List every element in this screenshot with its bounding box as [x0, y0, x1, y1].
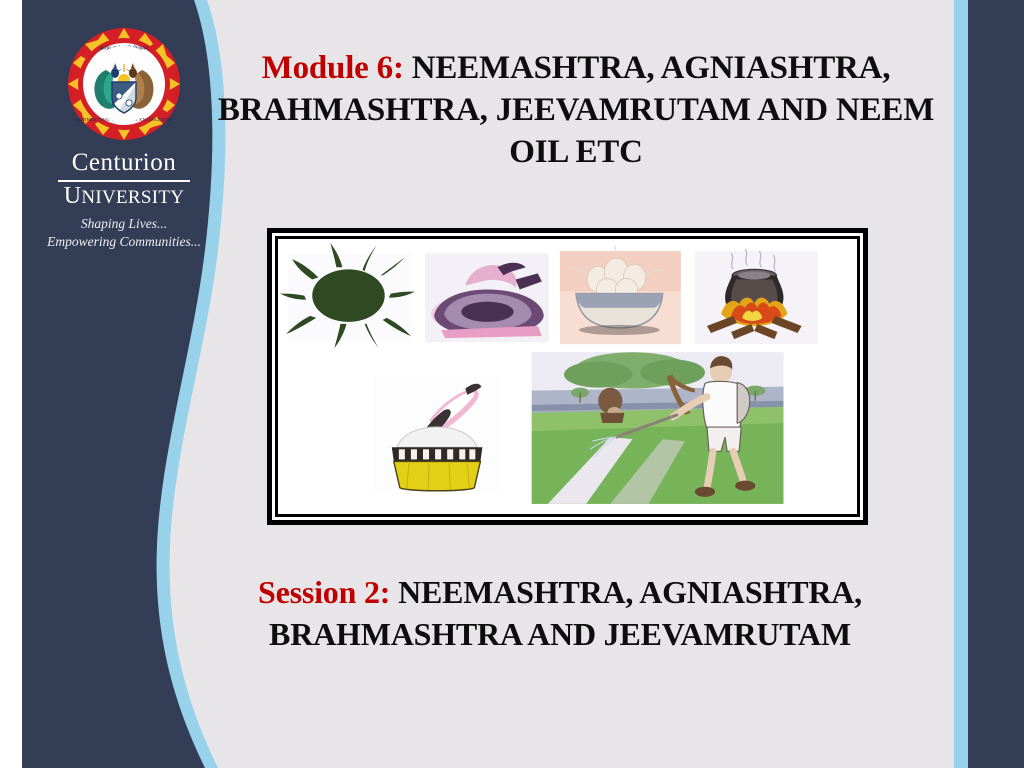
illustration-frame-inner	[272, 233, 863, 520]
tagline-line-1: Shaping Lives...	[34, 215, 214, 233]
grinding-stone-tile	[425, 253, 549, 342]
university-name-line-1: Centurion	[34, 150, 214, 178]
university-tagline: Shaping Lives... Empowering Communities.…	[34, 215, 214, 251]
university-branding: सत्यम् संयोजयति विज्ञानम् CONNECTING THR…	[34, 26, 214, 251]
slide-title: Module 6: NEEMASHTRA, AGNIASHTRA, BRAHMA…	[196, 48, 956, 174]
illustration-canvas	[278, 239, 857, 514]
slide-canvas: सत्यम् संयोजयति विज्ञानम् CONNECTING THR…	[0, 0, 1024, 768]
university-name-rule	[58, 180, 190, 182]
farmer-spraying-tile	[532, 352, 784, 504]
slide-title-module-label: Module 6:	[262, 50, 404, 86]
session-label: Session 2:	[258, 574, 390, 610]
university-name-line-2-cap: U	[64, 183, 82, 209]
university-name-line-2: UNIVERSITY	[34, 184, 214, 208]
pot-on-fire-tile	[695, 249, 818, 344]
garlic-bowl-tile	[560, 245, 681, 344]
neem-leaves-tile	[280, 243, 415, 348]
illustration-frame	[267, 228, 868, 525]
university-name-line-2-rest: NIVERSITY	[81, 187, 184, 208]
centurion-university-emblem-icon: सत्यम् संयोजयति विज्ञानम् CONNECTING THR…	[66, 26, 182, 142]
straining-pot-tile	[374, 377, 501, 492]
session-title: Session 2: NEEMASHTRA, AGNIASHTRA, BRAHM…	[150, 572, 970, 655]
right-navy-band	[968, 0, 1024, 768]
tagline-line-2: Empowering Communities...	[34, 233, 214, 251]
